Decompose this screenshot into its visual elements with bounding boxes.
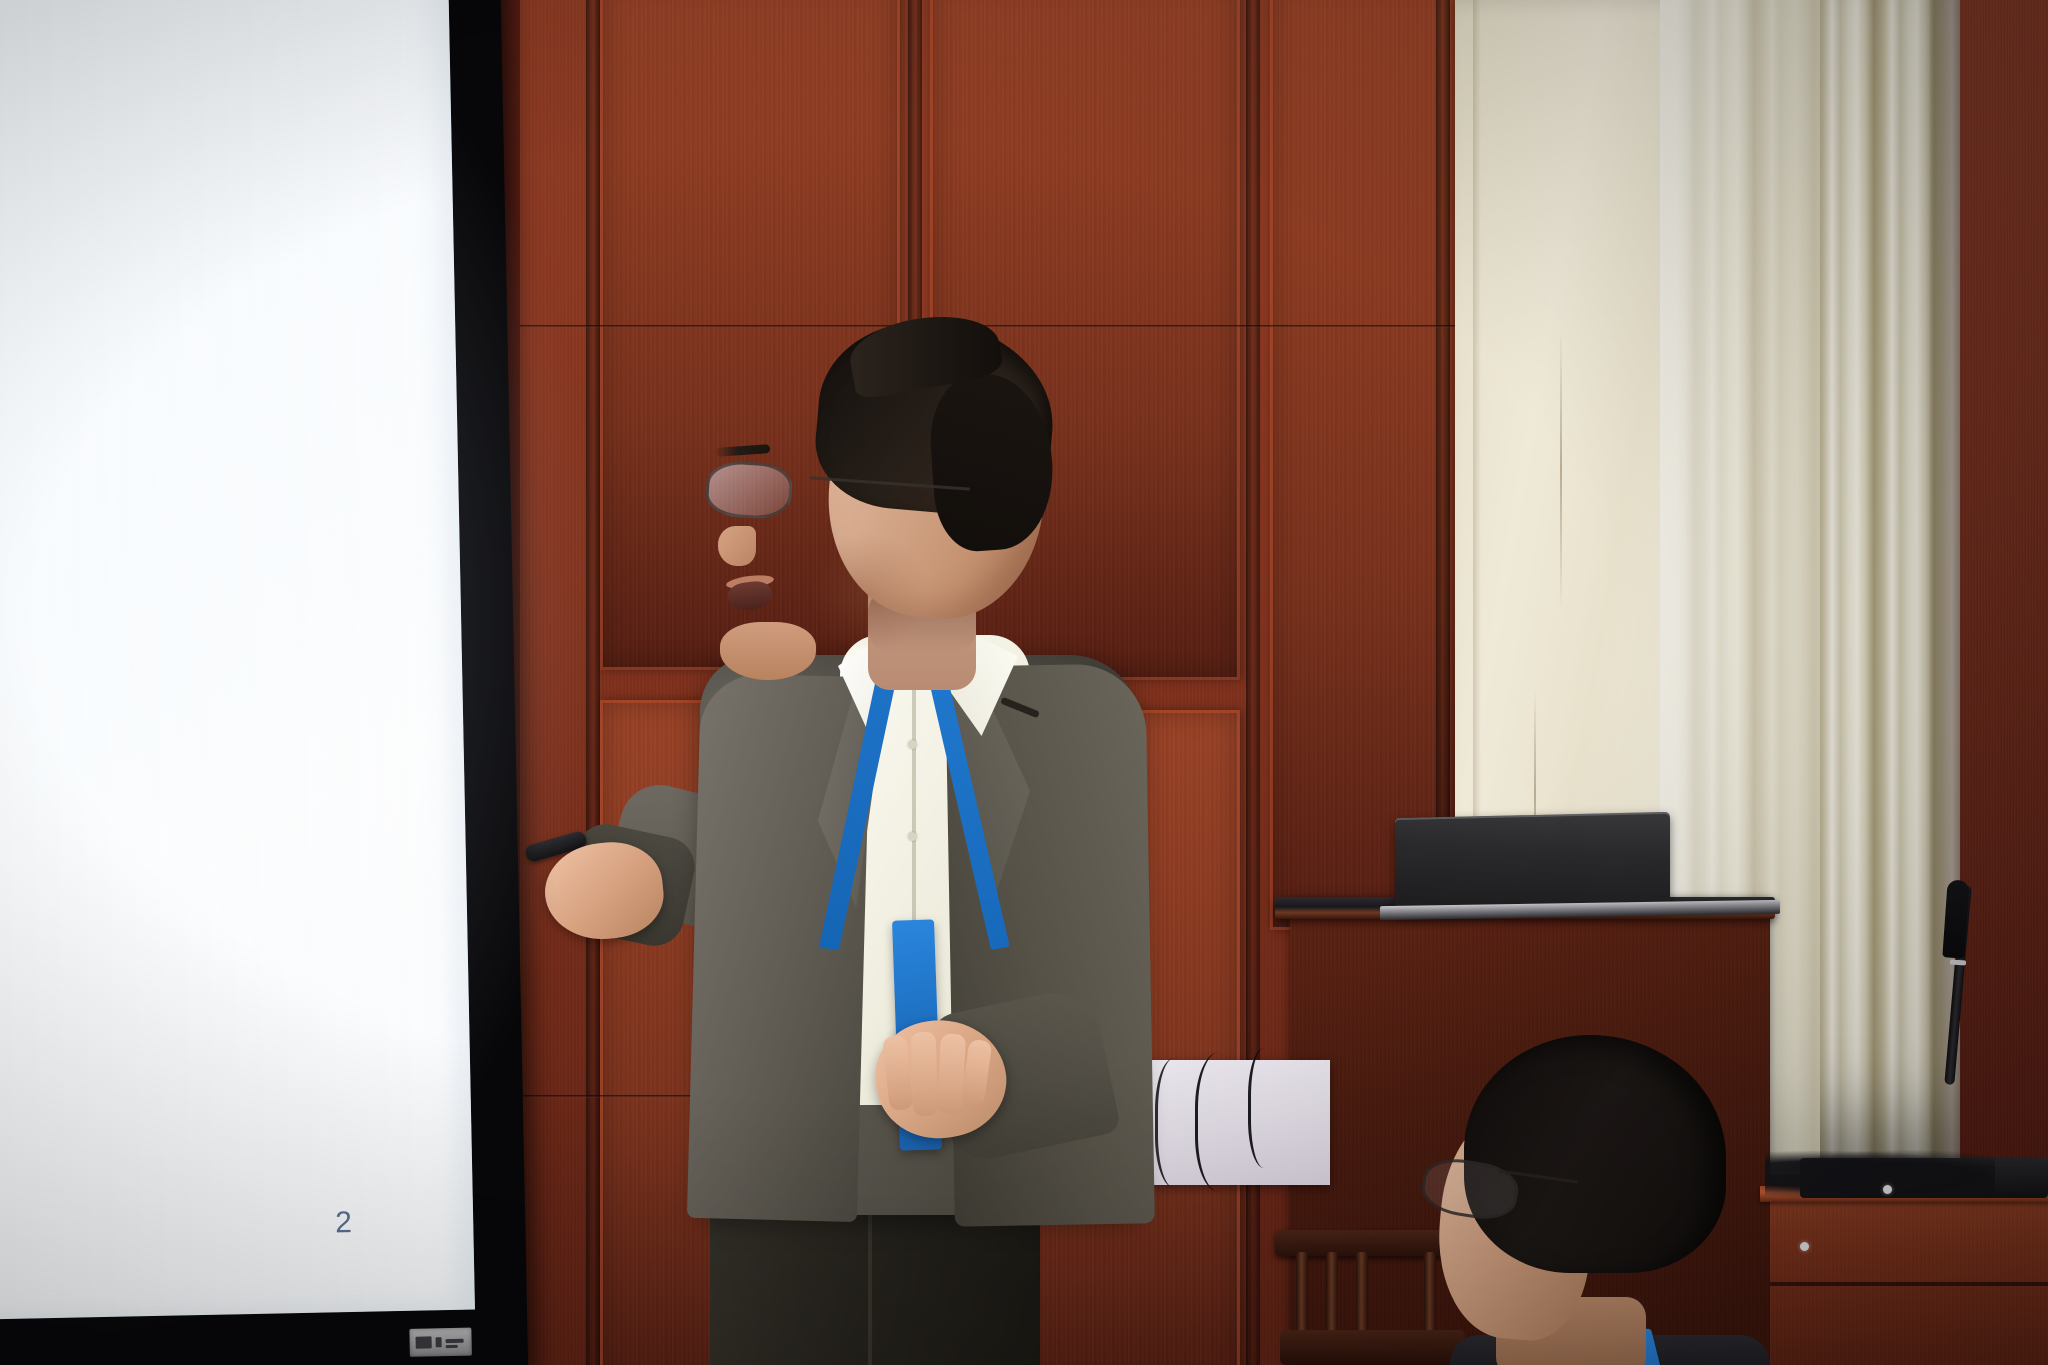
wood-seam-upper bbox=[520, 325, 1470, 328]
projection-screen-surface[interactable]: 2 bbox=[0, 0, 475, 1320]
stage-panel-seam bbox=[1770, 1282, 2048, 1286]
microphone-ring bbox=[1950, 959, 1966, 965]
presenter-nose bbox=[718, 526, 756, 566]
wall-crack-a bbox=[1560, 330, 1562, 610]
eyeglasses-lens bbox=[704, 459, 794, 521]
presenter-chin bbox=[720, 622, 816, 680]
presenter bbox=[700, 440, 1260, 1365]
stage-front-edge bbox=[1770, 1192, 2048, 1365]
projection-screen-assembly: 2 bbox=[0, 0, 528, 1365]
presenter-shirt-button-2 bbox=[908, 832, 917, 841]
audience-member bbox=[1440, 1035, 1770, 1365]
cable-connector-2 bbox=[1883, 1185, 1892, 1194]
wood-groove-a bbox=[586, 0, 600, 1365]
presenter-cheek-shading bbox=[808, 532, 928, 652]
projection-screen-brand-badge bbox=[409, 1328, 472, 1357]
audience-hair bbox=[1464, 1035, 1726, 1273]
presenter-eyebrow bbox=[716, 444, 770, 457]
presenter-finger-2 bbox=[911, 1032, 939, 1117]
conference-presentation-scene: 2 bbox=[0, 0, 2048, 1365]
laptop[interactable] bbox=[1395, 812, 1670, 914]
wood-wall-far-right bbox=[1960, 0, 2048, 1190]
presenter-finger-3 bbox=[937, 1033, 966, 1114]
chair-back-bottom-rail bbox=[1280, 1330, 1465, 1365]
cable-connector bbox=[1800, 1242, 1809, 1251]
cable-bundle bbox=[1765, 1150, 1995, 1198]
slide-page-number: 2 bbox=[335, 1206, 353, 1240]
presenter-shirt-button-1 bbox=[908, 740, 917, 749]
